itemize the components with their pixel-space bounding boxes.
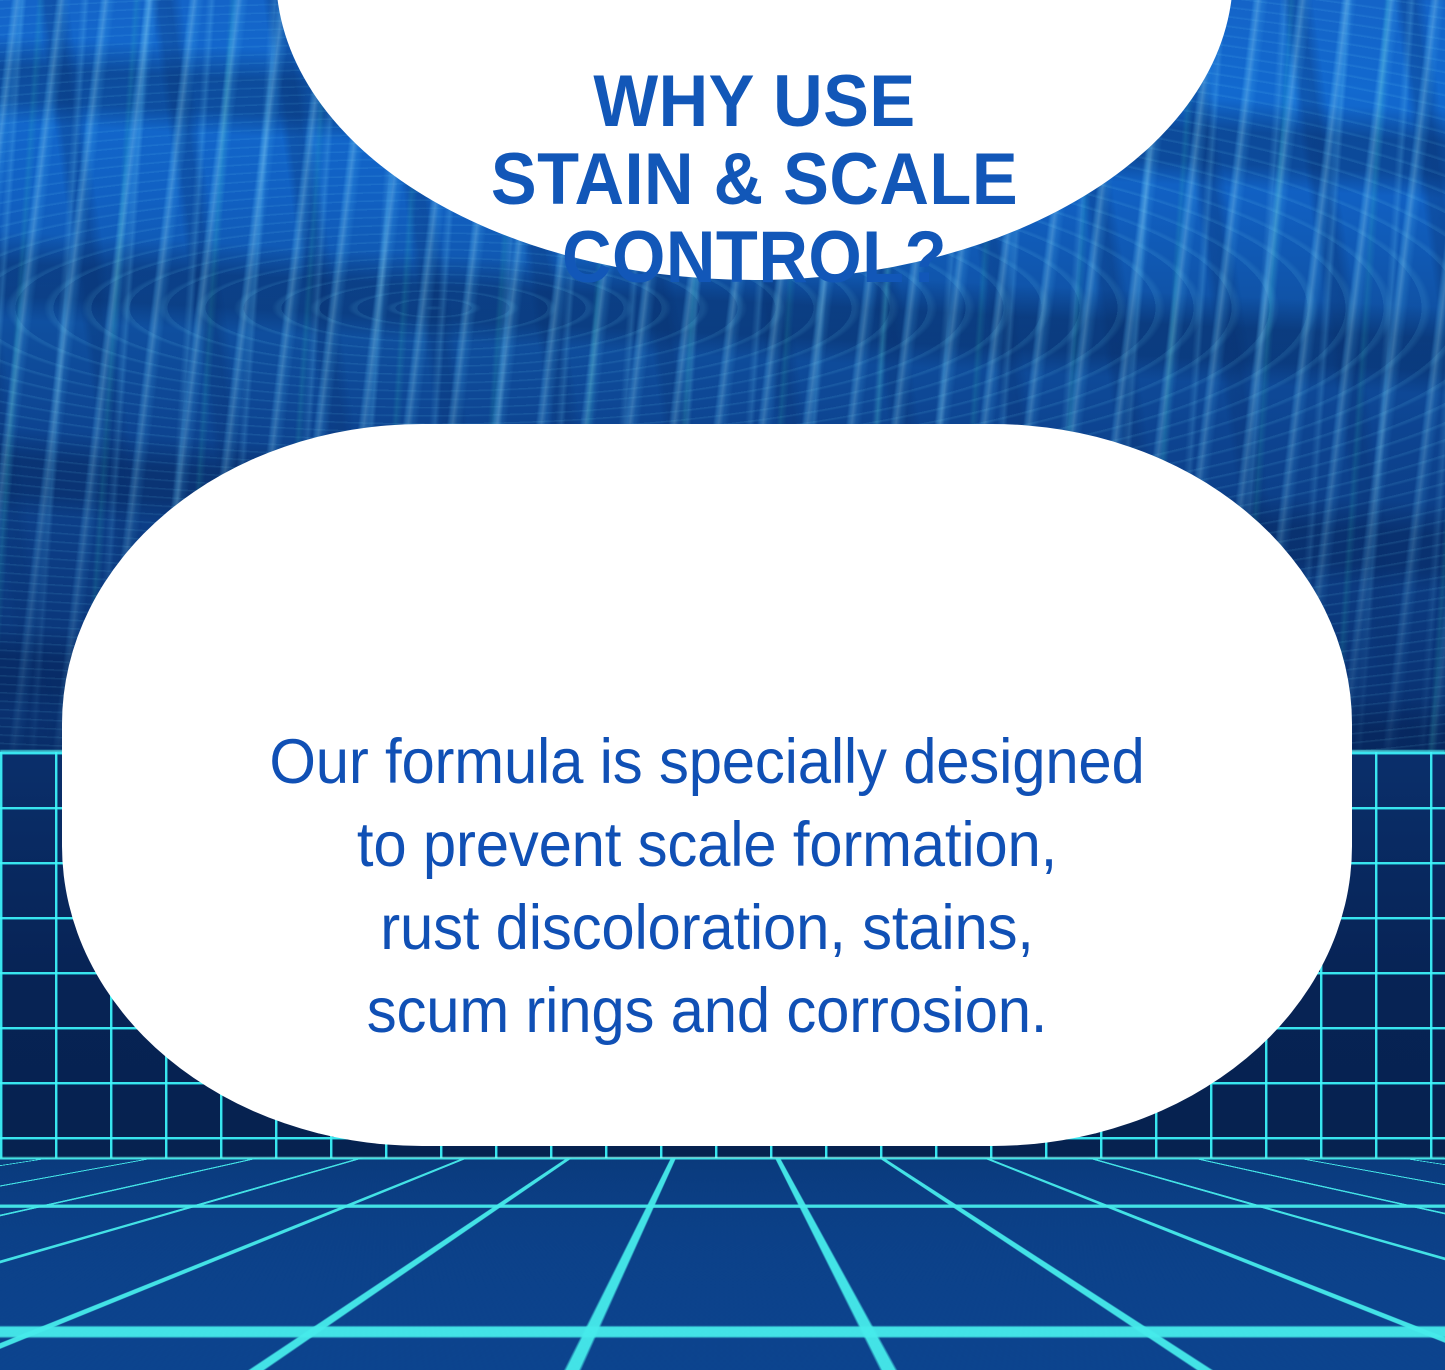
pool-floor-tiles [0, 1158, 1445, 1370]
body-description: Our formula is specially designed to pre… [94, 721, 1320, 1053]
page-title: WHY USE STAIN & SCALE CONTROL? [305, 63, 1205, 297]
promo-graphic-canvas: WHY USE STAIN & SCALE CONTROL? Our formu… [0, 0, 1445, 1370]
pool-floor-light-glow [0, 1158, 1445, 1370]
